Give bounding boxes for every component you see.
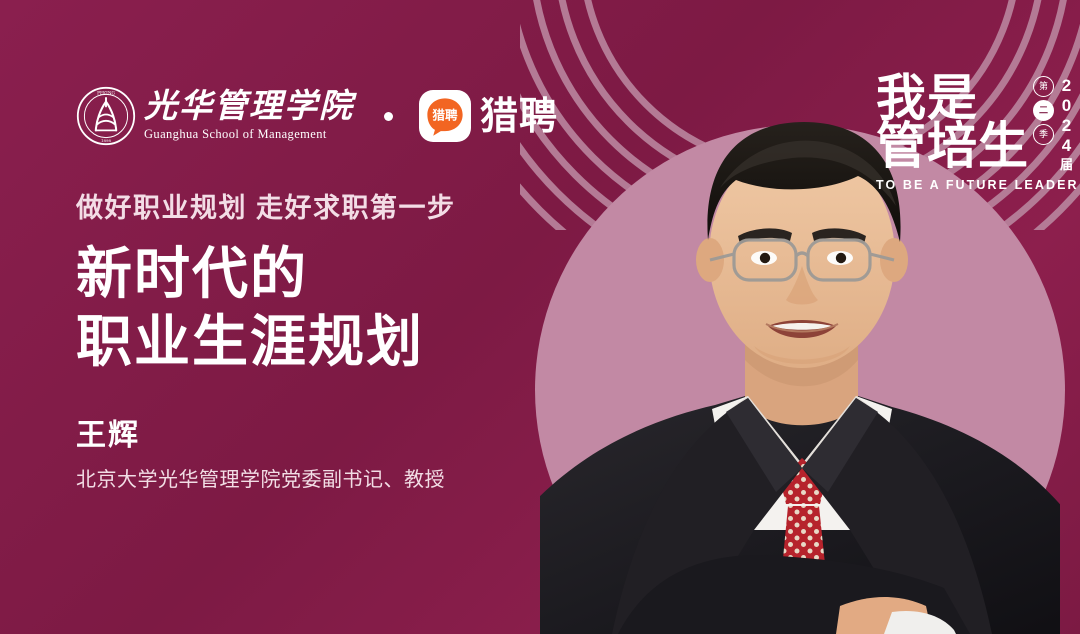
guanghua-name-cn: 光华管理学院 [144, 90, 354, 125]
pku-seal-icon: PEKING 1898 [76, 86, 136, 146]
page-title: 新时代的 职业生涯规划 [76, 240, 424, 377]
season-chip-bottom: 季 [1033, 124, 1054, 145]
badge-title-line-2: 管培生 [876, 122, 1029, 170]
liepin-wordmark: 猎聘 [480, 97, 558, 135]
svg-text:1898: 1898 [101, 138, 111, 143]
logo-separator-dot [384, 112, 393, 121]
speaker-title: 北京大学光华管理学院党委副书记、教授 [76, 463, 445, 492]
season-marker: 第 二 季 [1033, 76, 1054, 145]
season-chip-mid: 二 [1033, 100, 1054, 121]
kicker-text: 做好职业规划 走好求职第一步 [76, 186, 456, 225]
program-badge: 我是 管培生 第 二 季 2024 届 TO BE A FUTURE LEADE… [876, 74, 1056, 222]
badge-title-line-1: 我是 [876, 74, 1029, 122]
headline-line-1: 新时代的 [76, 240, 424, 308]
guanghua-name-en: Guanghua School of Management [144, 127, 354, 142]
guanghua-wordmark: 光华管理学院 Guanghua School of Management [144, 90, 354, 143]
badge-tagline: TO BE A FUTURE LEADER [876, 178, 1056, 192]
speaker-name: 王辉 [76, 410, 140, 454]
headline-line-2: 职业生涯规划 [76, 308, 424, 376]
logo-lockup: PEKING 1898 光华管理学院 Guanghua School of Ma… [76, 86, 558, 146]
season-chip-top: 第 [1033, 76, 1054, 97]
liepin-app-icon: 猎聘 [419, 90, 471, 142]
year-marker: 2024 届 [1058, 76, 1075, 171]
badge-title-cn: 我是 管培生 [876, 74, 1029, 170]
svg-text:PEKING: PEKING [97, 90, 115, 95]
liepin-logo: 猎聘 猎聘 [419, 90, 558, 142]
poster-canvas: PEKING 1898 光华管理学院 Guanghua School of Ma… [0, 0, 1080, 634]
svg-text:猎聘: 猎聘 [432, 107, 458, 122]
year-suffix: 届 [1060, 158, 1073, 171]
year-number: 2024 [1058, 76, 1075, 156]
